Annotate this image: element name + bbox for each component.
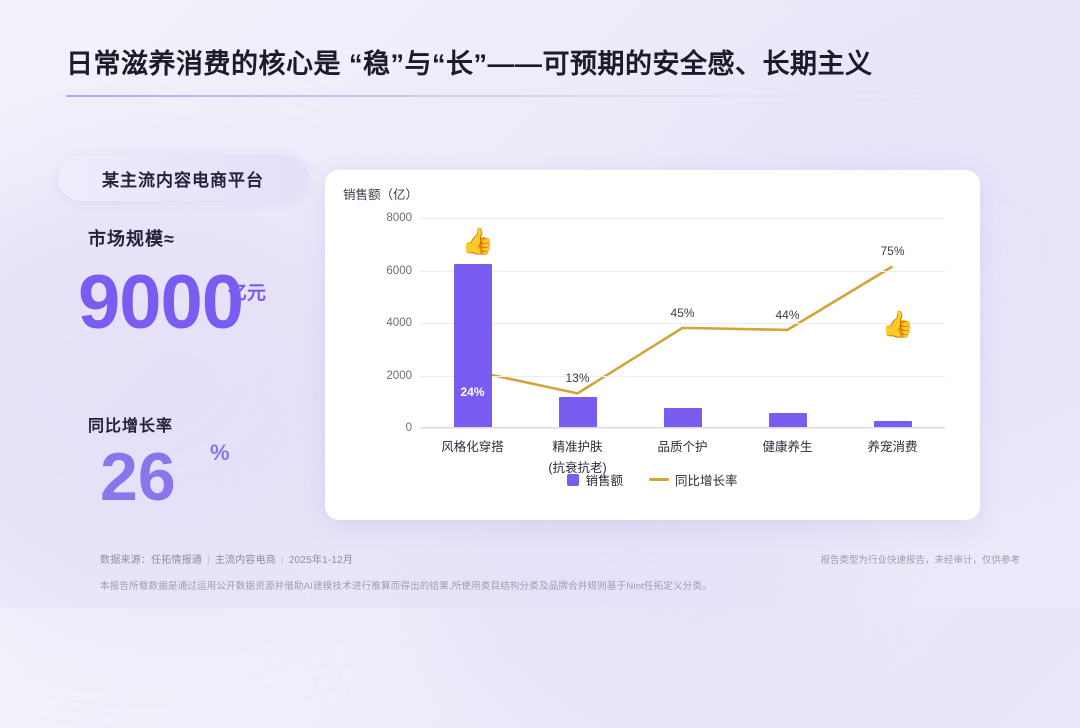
- line-value-label: 13%: [551, 371, 605, 385]
- x-axis-category-label: 健康养生: [733, 436, 843, 455]
- line-value-label: 75%: [866, 244, 920, 258]
- growth-rate-unit: %: [210, 440, 230, 466]
- footer-disclaimer: 本报告所载数据是通过运用公开数据资源并借助AI建模技术进行推算而得出的结果,所使…: [100, 578, 712, 592]
- bar: [769, 413, 807, 428]
- legend-item-line: 同比增长率: [649, 470, 738, 489]
- legend-swatch-line-icon: [649, 478, 669, 481]
- footer-source-2: 主流内容电商: [215, 555, 276, 566]
- platform-pill-label: 某主流内容电商平台: [102, 166, 264, 191]
- thumbs-up-icon: 👍: [882, 311, 914, 337]
- thumbs-up-icon: 👍: [462, 228, 494, 254]
- growth-rate-label: 同比增长率: [88, 412, 173, 436]
- x-axis-category-label: 养宠消费: [838, 436, 948, 455]
- legend-item-bar: 销售额: [567, 470, 623, 489]
- bar: [454, 264, 492, 428]
- footer-source-3: 2025年1-12月: [289, 555, 353, 566]
- footer-source: 数据来源：任拓情报通|主流内容电商|2025年1-12月: [100, 551, 353, 566]
- grid-line: [420, 323, 945, 324]
- x-axis-category-label: 风格化穿搭: [418, 436, 528, 455]
- page-title: 日常滋养消费的核心是 “稳”与“长”——可预期的安全感、长期主义: [66, 42, 918, 81]
- footer-sep-2: |: [281, 555, 284, 566]
- title-divider: [66, 95, 918, 97]
- market-size-label: 市场规模≈: [88, 225, 175, 251]
- y-axis-tick: 6000: [386, 265, 412, 277]
- grid-line: [420, 271, 945, 272]
- chart-card: 销售额（亿） 0200040006000800024%13%45%44%75%风…: [325, 170, 980, 520]
- y-axis-tick: 0: [406, 422, 412, 434]
- legend-label-line: 同比增长率: [675, 470, 738, 489]
- grid-line: [420, 376, 945, 377]
- page-title-block: 日常滋养消费的核心是 “稳”与“长”——可预期的安全感、长期主义: [66, 42, 918, 97]
- grid-line: [420, 428, 945, 429]
- footer-source-1: 任拓情报通: [151, 555, 202, 566]
- line-value-label: 44%: [761, 308, 815, 322]
- growth-rate-value: 26: [100, 443, 176, 511]
- legend-label-bar: 销售额: [585, 470, 623, 489]
- x-axis-line: [420, 427, 945, 428]
- bar: [559, 397, 597, 429]
- footer-source-prefix: 数据来源：: [100, 555, 151, 566]
- line-value-label: 24%: [443, 385, 503, 399]
- y-axis-tick: 4000: [386, 317, 412, 329]
- y-axis-title: 销售额（亿）: [343, 184, 418, 203]
- y-axis-tick: 2000: [386, 370, 412, 382]
- chart-legend: 销售额 同比增长率: [325, 470, 980, 489]
- x-axis-category-label: 品质个护: [628, 436, 738, 455]
- y-axis-tick: 8000: [386, 212, 412, 224]
- line-value-label: 45%: [656, 306, 710, 320]
- platform-pill: 某主流内容电商平台: [58, 155, 308, 201]
- chart-plot-area: 0200040006000800024%13%45%44%75%风格化穿搭精准护…: [420, 218, 945, 428]
- grid-line: [420, 218, 945, 219]
- legend-swatch-bar-icon: [567, 474, 579, 486]
- footer-note: 报告类型为行业快速报告，未经审计，仅供参考: [820, 552, 1020, 566]
- bar: [664, 408, 702, 428]
- market-size-value: 9000: [78, 265, 243, 341]
- market-size-unit: 亿元: [228, 278, 266, 305]
- footer-sep-1: |: [207, 555, 210, 566]
